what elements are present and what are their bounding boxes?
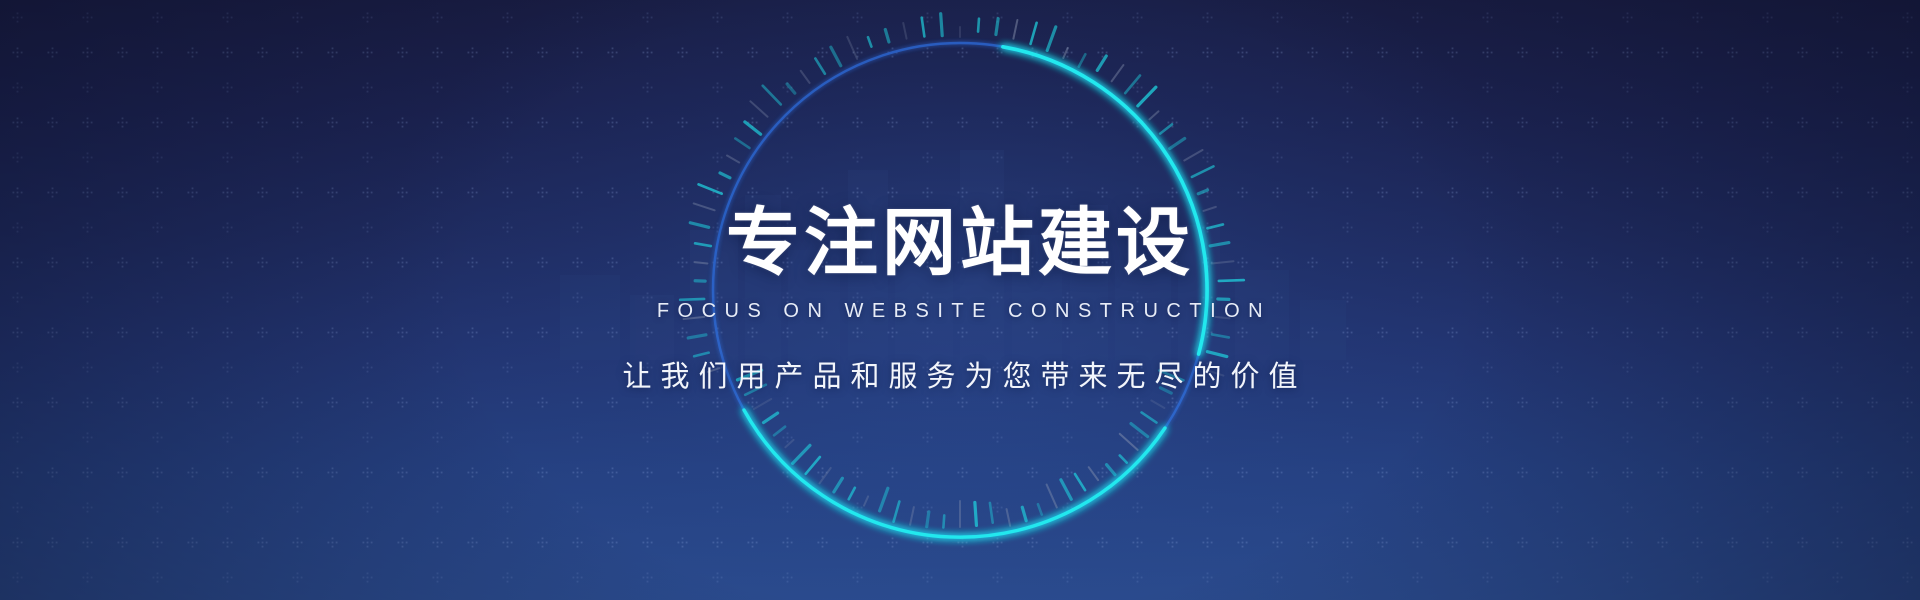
- faint-city-skyline: [0, 110, 1920, 360]
- cyan-arc-top-right: [1003, 47, 1207, 354]
- radial-tick-marks: [680, 14, 1244, 528]
- cyan-arc-bottom-left: [744, 410, 1165, 537]
- center-glow: [0, 0, 1920, 600]
- ring-base-circle: [713, 43, 1207, 537]
- banner-text-block: 专注网站建设 FOCUS ON WEBSITE CONSTRUCTION 让我们…: [0, 0, 1920, 600]
- edge-vignette: [0, 0, 1920, 600]
- page-title: 专注网站建设: [726, 206, 1194, 280]
- dot-grid-texture: [0, 0, 1920, 600]
- subtitle-english: FOCUS ON WEBSITE CONSTRUCTION: [649, 300, 1271, 323]
- hero-banner: 专注网站建设 FOCUS ON WEBSITE CONSTRUCTION 让我们…: [0, 0, 1920, 600]
- subtitle-chinese: 让我们用产品和服务为您带来无尽的价值: [613, 353, 1306, 395]
